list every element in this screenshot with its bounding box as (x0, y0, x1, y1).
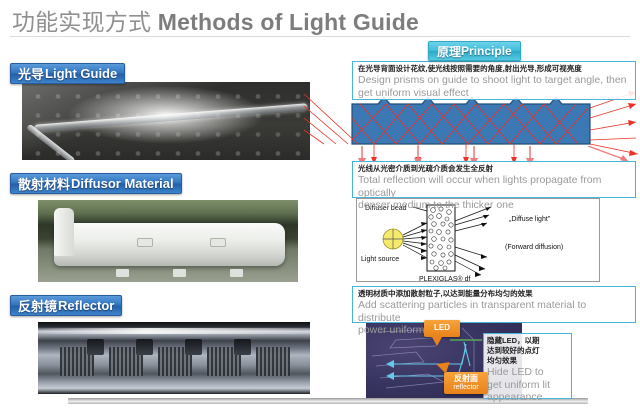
plexiglas-label: PLEXIGLAS® df (419, 275, 471, 283)
incoming-beam-arrowheads (421, 222, 427, 260)
section-label-reflector-en: Reflector (58, 298, 114, 313)
hide-led-en-line2: get uniform lit (487, 379, 568, 392)
diffuse-output-arrowheads (475, 207, 491, 277)
hide-led-cn-line2: 达到较好的点灯 (487, 346, 568, 356)
title-divider (10, 36, 630, 37)
section-label-reflector-cn: 反射镜 (18, 296, 57, 315)
principle-text-3-en-line1: Add scattering particles in transparent … (358, 299, 631, 324)
principle-badge-cn: 原理 (437, 43, 461, 60)
principle-text-1-en-line2: get uniform visual effect (358, 87, 631, 100)
page-title-cn: 功能实现方式 (12, 9, 158, 35)
diffusor-part-tab (210, 238, 226, 247)
light-path-arrowheads (386, 360, 394, 380)
principle-text-block-2: 光线从光密介质到光疏介质会发生全反射 Total reflection will… (352, 161, 636, 198)
principle-text-block-1: 在光导背面设计花纹,使光线按照需要的角度,射出光导,形成可视亮度 Design … (352, 61, 636, 100)
principle-badge-en: Principle (461, 44, 512, 58)
diffusor-part-foot (230, 269, 243, 277)
diffusor-material-photo (38, 200, 298, 282)
callout-reflector: 反射面 reflector (444, 372, 488, 394)
diffusor-part-body (54, 223, 285, 266)
page-title: 功能实现方式 Methods of Light Guide (12, 3, 419, 37)
principle-text-2-cn: 光线从光密介质到光疏介质会发生全反射 (358, 164, 631, 174)
reflector-led-module (234, 339, 251, 355)
principle-text-3-cn: 透明材质中添加散射粒子,以达到能量分布均匀的效果 (358, 289, 631, 299)
callout-led: LED (424, 320, 460, 337)
hide-led-cn-line1: 隐藏LED，以期 (487, 336, 568, 346)
light-guide-bar (352, 97, 590, 144)
principle-text-2-en-line1: Total reflection will occur when lights … (358, 174, 631, 199)
section-label-diffusor-material-cn: 散射材料 (18, 174, 70, 193)
reflector-led-module (136, 339, 153, 355)
reflector-led-module (185, 339, 202, 355)
light-guide-rod-shape (34, 103, 307, 131)
incoming-beams (403, 223, 427, 258)
callout-reflector-label-en: reflector (453, 384, 478, 391)
diffuser-figure-svg: Diffuser bead Light source PLEXIGLAS® df… (357, 199, 601, 283)
diffusor-part-foot (116, 269, 129, 277)
page-title-en: Methods of Light Guide (158, 9, 419, 35)
callout-reflector-label-cn: 反射面 (454, 375, 478, 383)
diffusor-part-tab (137, 238, 153, 247)
light-guide-rod-photo (22, 82, 310, 160)
diffuse-light-label: „Diffuse light" (509, 216, 551, 223)
hide-led-text-block: 隐藏LED，以期 达到较好的点灯 均匀效果 Hide LED to get un… (483, 333, 572, 399)
hide-led-cn-line3: 均匀效果 (487, 356, 568, 366)
forward-diffusion-label: (Forward diffusion) (505, 244, 563, 251)
hide-led-en-line3: appearance (487, 391, 568, 404)
callout-led-tail (432, 337, 442, 346)
slide-canvas: 功能实现方式 Methods of Light Guide 光导Light Gu… (0, 0, 640, 409)
light-source-label: Light source (361, 256, 399, 263)
callout-led-label: LED (434, 324, 450, 332)
reflector-led-module (87, 339, 104, 355)
section-label-light-guide-cn: 光导 (18, 64, 44, 83)
hide-led-en-line1: Hide LED to (487, 366, 568, 379)
diffusor-part-foot (173, 269, 186, 277)
section-label-light-guide: 光导Light Guide (10, 63, 125, 84)
principle-text-1-cn: 在光导背面设计花纹,使光线按照需要的角度,射出光导,形成可视亮度 (358, 64, 631, 74)
reflector-chrome-highlight (38, 328, 310, 334)
section-label-light-guide-en: Light Guide (45, 66, 117, 81)
section-label-diffusor-material: 散射材料Diffusor Material (10, 173, 182, 194)
section-label-reflector: 反射镜Reflector (10, 295, 122, 316)
reflector-photo (38, 322, 310, 394)
principle-badge: 原理Principle (428, 41, 521, 61)
slide-title-bar: 功能实现方式 Methods of Light Guide (0, 0, 640, 36)
principle-text-block-3: 透明材质中添加散射粒子,以达到能量分布均匀的效果 Add scattering … (352, 286, 636, 323)
principle-text-2-en-line2: denser medium to the thicker one (358, 199, 631, 212)
principle-text-1-en-line1: Design prisms on guide to shoot light to… (358, 74, 631, 87)
diffusor-part-arm (54, 208, 74, 256)
light-path-arrows (390, 342, 470, 376)
section-label-diffusor-material-en: Diffusor Material (71, 176, 174, 191)
reflector-cell (256, 347, 290, 376)
